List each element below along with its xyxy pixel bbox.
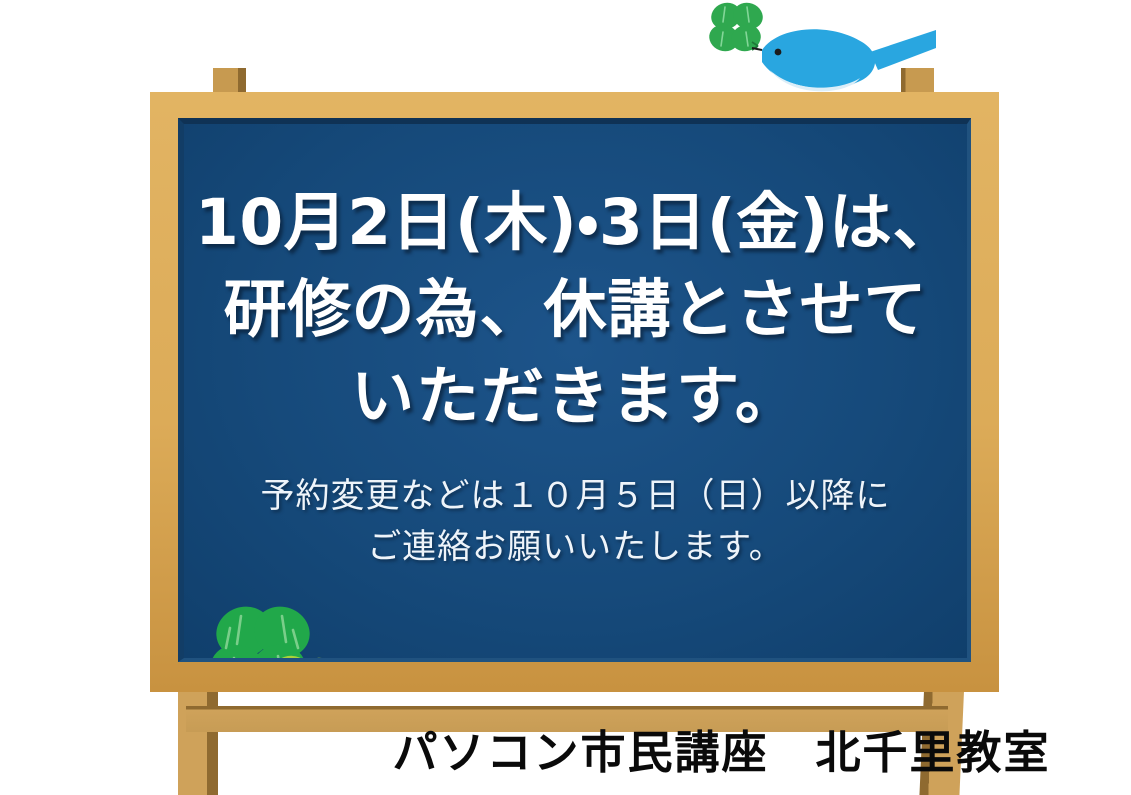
four-leaf-clover-icon	[705, 0, 766, 55]
headline-line-1: 10月2日(木)・3日(金)は、	[184, 180, 967, 267]
chalkboard-frame: 10月2日(木)・3日(金)は、 研修の為、休講とさせて いただきます。 予約変…	[150, 92, 999, 692]
subtext-line-2: ご連絡お願いいたします。	[184, 522, 967, 574]
clover-decoration-group	[186, 598, 346, 662]
school-name: パソコン市民講座 北千里教室	[392, 716, 1050, 781]
headline-line-3: いただきます。	[184, 354, 967, 441]
four-leaf-clover-large	[203, 599, 317, 662]
poster-canvas: 10月2日(木)・3日(金)は、 研修の為、休講とさせて いただきます。 予約変…	[0, 0, 1131, 795]
clover-large-stem	[242, 658, 264, 662]
bird-decoration-group	[700, 0, 940, 100]
subtext-group: 予約変更などは１０月５日（日）以降に ご連絡お願いいたします。	[184, 471, 967, 574]
bird-eye	[775, 49, 782, 56]
announcement-text: 10月2日(木)・3日(金)は、 研修の為、休講とさせて いただきます。 予約変…	[184, 124, 967, 574]
chalkboard-surface: 10月2日(木)・3日(金)は、 研修の為、休講とさせて いただきます。 予約変…	[178, 118, 971, 662]
bird-tail	[870, 30, 936, 70]
headline-line-2: 研修の為、休講とさせて	[184, 267, 967, 354]
footer-caption: パソコン市民講座 北千里教室	[0, 716, 1131, 781]
blue-bird-icon	[752, 29, 936, 91]
subtext-line-1: 予約変更などは１０月５日（日）以降に	[184, 471, 967, 523]
